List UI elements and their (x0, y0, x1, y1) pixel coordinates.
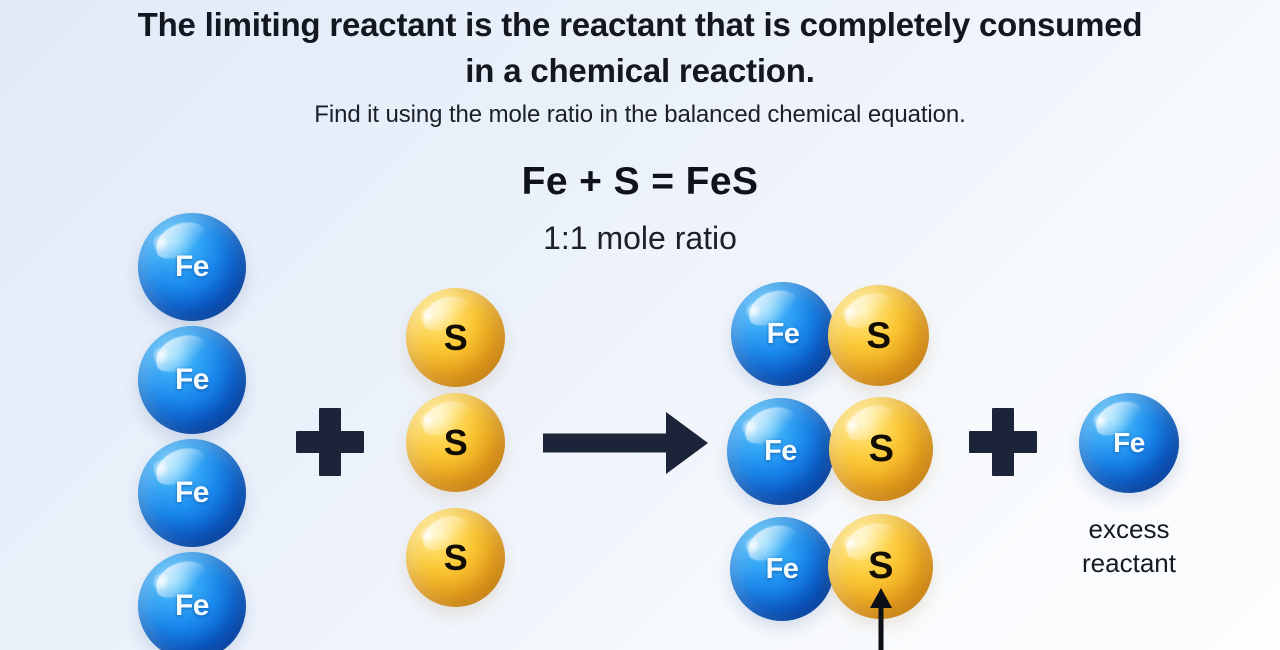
sphere-highlight-icon (742, 417, 758, 437)
reactant-iron-atom-1: Fe (138, 213, 246, 321)
limiting-reactant-pointer-icon (869, 588, 893, 650)
reaction-arrow-icon (543, 409, 708, 477)
reactant-sulfur-atom-2: S (406, 393, 505, 492)
excess-caption-line-1: excess (1019, 512, 1239, 546)
excess-iron-atom: Fe (1079, 393, 1179, 493)
reactant-sulfur-atom-3: S (406, 508, 505, 607)
chemical-equation: Fe + S = FeS (0, 157, 1280, 207)
product-iron-atom-2: Fe (727, 398, 834, 505)
reactant-sulfur-atom-1: S (406, 288, 505, 387)
sphere-highlight-icon (420, 411, 435, 430)
sphere-highlight-icon (843, 533, 859, 553)
sphere-highlight-icon (420, 306, 435, 325)
product-iron-atom-1: Fe (731, 282, 835, 386)
product-sulfur-atom-2: S (829, 397, 933, 501)
reactant-iron-atom-3: Fe (138, 439, 246, 547)
plus-sign-products (969, 408, 1037, 476)
page-title: The limiting reactant is the reactant th… (0, 2, 1280, 94)
reactant-iron-atom-4: Fe (138, 552, 246, 650)
plus-sign-reactants (296, 408, 364, 476)
diagram-canvas: The limiting reactant is the reactant th… (0, 0, 1280, 650)
excess-caption-line-2: reactant (1019, 546, 1239, 580)
pointer-head (870, 588, 892, 608)
product-iron-atom-3: Fe (730, 517, 834, 621)
arrow-head (666, 412, 708, 474)
excess-reactant-caption: excess reactant (1019, 512, 1239, 580)
reactant-iron-atom-2: Fe (138, 326, 246, 434)
sphere-highlight-icon (420, 526, 435, 545)
arrow-shaft (543, 434, 671, 453)
product-sulfur-atom-1: S (828, 285, 929, 386)
subtitle: Find it using the mole ratio in the bala… (0, 98, 1280, 132)
sphere-highlight-icon (1093, 411, 1108, 430)
